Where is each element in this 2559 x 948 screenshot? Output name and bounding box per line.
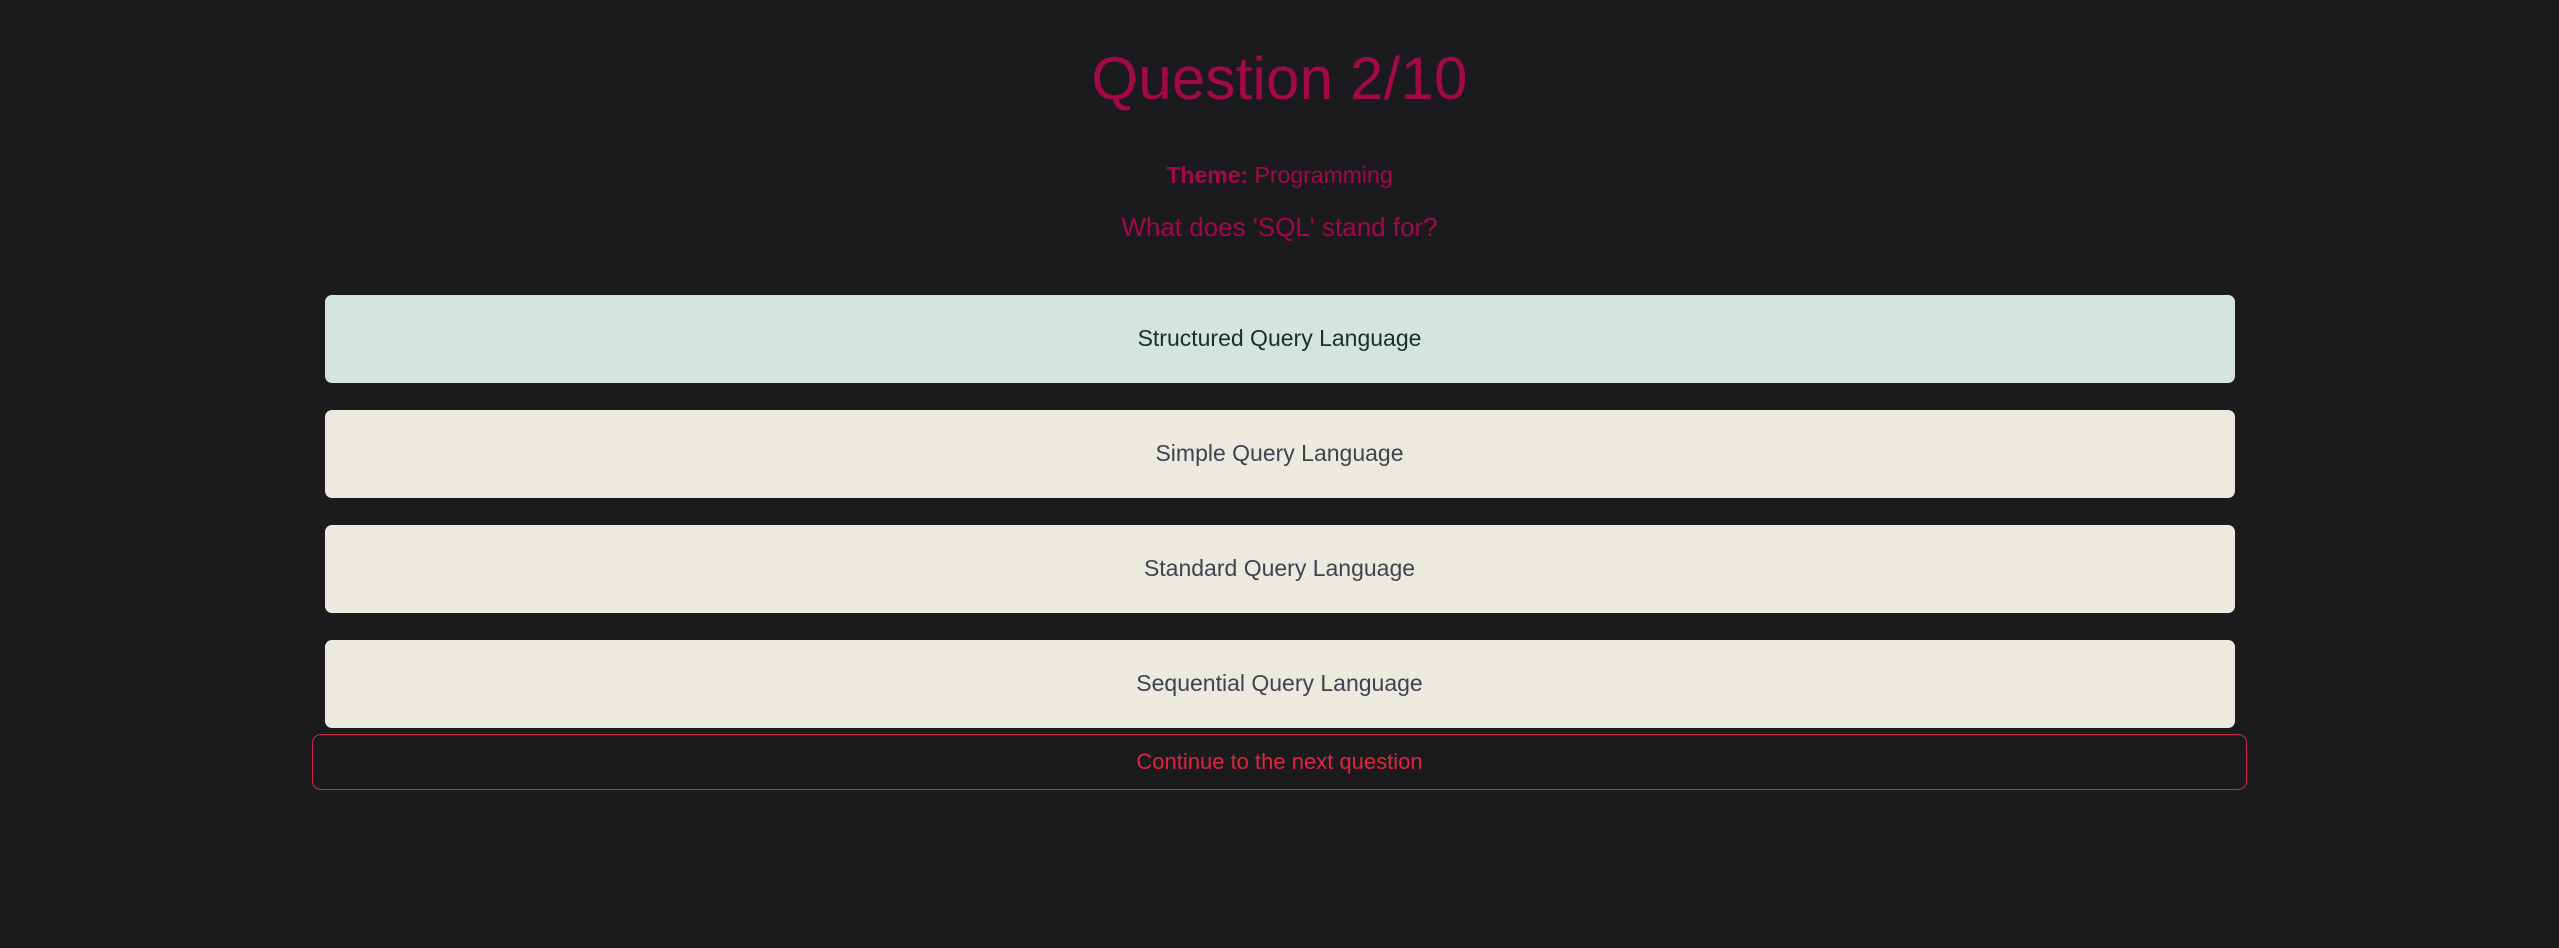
theme-label: Theme:	[1166, 162, 1248, 188]
page-title: Question 2/10	[0, 46, 2559, 112]
continue-button[interactable]: Continue to the next question	[312, 734, 2247, 790]
answer-options-list: Structured Query Language Simple Query L…	[325, 295, 2235, 728]
answer-option-2[interactable]: Simple Query Language	[325, 410, 2235, 498]
quiz-header: Question 2/10	[0, 0, 2559, 112]
answer-option-3[interactable]: Standard Query Language	[325, 525, 2235, 613]
answer-option-4[interactable]: Sequential Query Language	[325, 640, 2235, 728]
quiz-screen: Question 2/10 Theme: Programming What do…	[0, 0, 2559, 948]
theme-line: Theme: Programming	[0, 162, 2559, 190]
answer-option-1[interactable]: Structured Query Language	[325, 295, 2235, 383]
question-text: What does 'SQL' stand for?	[0, 212, 2559, 243]
question-block: Theme: Programming What does 'SQL' stand…	[0, 162, 2559, 243]
theme-value: Programming	[1248, 162, 1392, 188]
continue-area: Continue to the next question	[312, 734, 2247, 790]
